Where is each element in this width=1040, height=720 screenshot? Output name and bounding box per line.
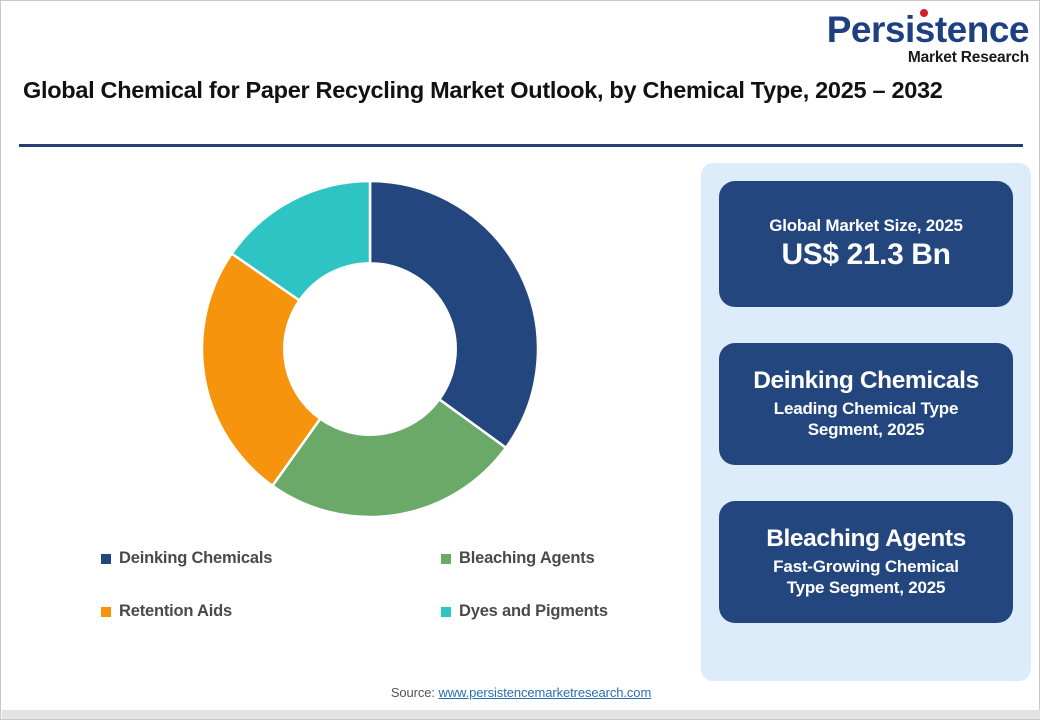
brand-name-text: Persistence [827,9,1029,50]
brand-name: Persistence [827,11,1029,48]
legend-swatch-icon [441,554,451,564]
chart-area [1,153,691,553]
card-global-market-size: Global Market Size, 2025 US$ 21.3 Bn [719,181,1013,307]
card-heading: Deinking Chemicals [753,367,979,396]
legend-swatch-icon [441,607,451,617]
card-fast-growing-segment: Bleaching Agents Fast-Growing Chemical T… [719,501,1013,623]
page-title: Global Chemical for Paper Recycling Mark… [23,75,983,106]
title-divider [19,144,1023,147]
donut-slice-group [202,181,538,517]
card-heading: Bleaching Agents [766,525,966,554]
legend-item-retention-aids[interactable]: Retention Aids [101,602,441,621]
card-subline-2: Segment, 2025 [808,419,924,440]
highlights-panel: Global Market Size, 2025 US$ 21.3 Bn Dei… [701,163,1031,681]
legend-item-dyes-and-pigments[interactable]: Dyes and Pigments [441,602,661,621]
donut-chart-svg [202,181,538,517]
source-label: Source: [391,685,439,700]
footer-bar [2,710,1040,719]
brand-tagline: Market Research [827,50,1029,66]
legend-swatch-icon [101,554,111,564]
card-leading-segment: Deinking Chemicals Leading Chemical Type… [719,343,1013,465]
source-line: Source: www.persistencemarketresearch.co… [1,685,1040,700]
legend-swatch-icon [101,607,111,617]
header: Persistence Market Research Global Chemi… [1,1,1040,147]
card-subline-1: Fast-Growing Chemical [773,556,959,577]
card-caption: Global Market Size, 2025 [769,215,963,236]
logo-red-dot-icon [920,9,928,17]
legend-item-bleaching-agents[interactable]: Bleaching Agents [441,549,661,568]
legend-label: Deinking Chemicals [119,549,272,568]
chart-legend: Deinking Chemicals Bleaching Agents Rete… [101,549,661,621]
card-subline-2: Type Segment, 2025 [787,577,946,598]
legend-item-deinking-chemicals[interactable]: Deinking Chemicals [101,549,441,568]
brand-logo: Persistence Market Research [827,11,1029,66]
legend-label: Bleaching Agents [459,549,595,568]
donut-slice[interactable] [370,181,538,448]
card-value: US$ 21.3 Bn [781,237,950,273]
card-subline-1: Leading Chemical Type [774,398,958,419]
donut-chart [202,181,538,517]
infographic-container: Persistence Market Research Global Chemi… [0,0,1040,720]
legend-label: Retention Aids [119,602,232,621]
legend-label: Dyes and Pigments [459,602,608,621]
source-link[interactable]: www.persistencemarketresearch.com [438,685,651,700]
